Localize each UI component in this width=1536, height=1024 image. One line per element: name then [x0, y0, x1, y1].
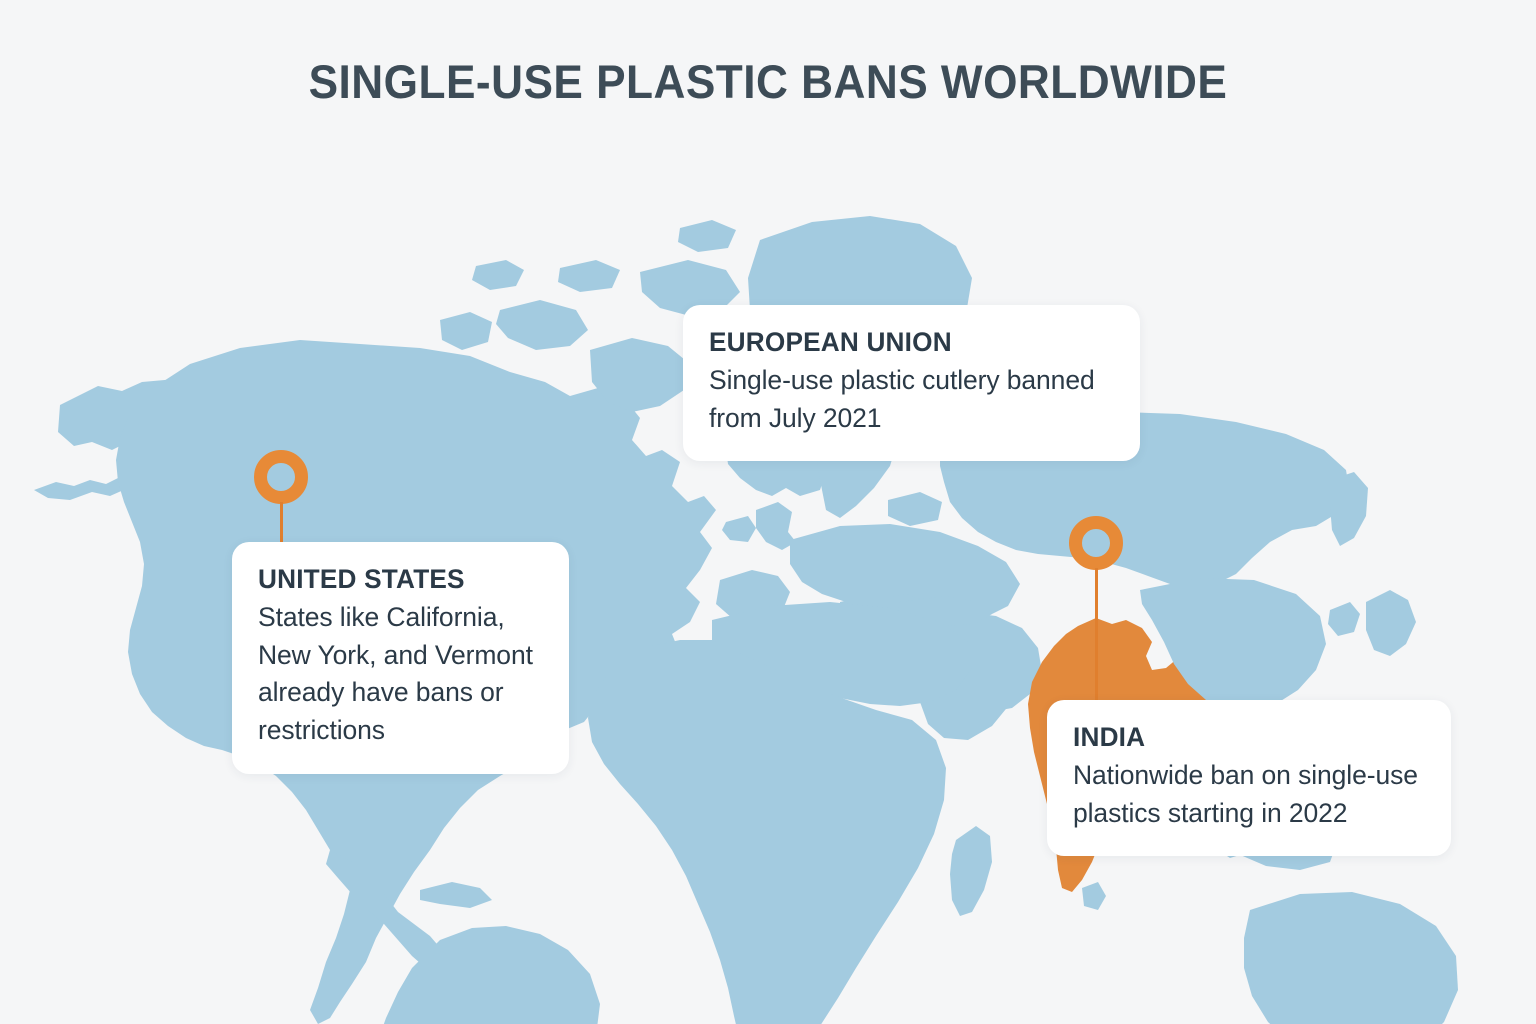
- land-iceland: [888, 492, 942, 526]
- land-arctic-islets-1: [558, 260, 620, 292]
- land-caribbean: [420, 882, 492, 908]
- callout-card-european-union[interactable]: EUROPEAN UNION Single-use plastic cutler…: [683, 305, 1140, 461]
- land-madagascar: [950, 826, 992, 916]
- callout-body-india: Nationwide ban on single-use plastics st…: [1073, 757, 1425, 832]
- callout-body-united-states: States like California, New York, and Ve…: [258, 599, 543, 750]
- land-arctic-islets-3: [472, 260, 524, 290]
- map-pin-ring-icon: [254, 450, 308, 504]
- callout-title-united-states: UNITED STATES: [258, 564, 534, 595]
- infographic-canvas: SINGLE-USE PLASTIC BANS WORLDWIDE: [0, 0, 1536, 1024]
- map-pin-ring-icon: [1069, 516, 1123, 570]
- world-map: [0, 150, 1536, 1024]
- land-banks-island: [440, 312, 492, 350]
- land-victoria-island: [496, 300, 588, 350]
- callout-title-india: INDIA: [1073, 722, 1414, 753]
- callout-card-united-states[interactable]: UNITED STATES States like California, Ne…: [232, 542, 569, 774]
- land-ireland: [722, 516, 756, 542]
- page-title: SINGLE-USE PLASTIC BANS WORLDWIDE: [46, 58, 1490, 105]
- callout-title-european-union: EUROPEAN UNION: [709, 327, 1102, 358]
- land-arctic-islets-2: [678, 220, 736, 252]
- land-korea: [1328, 602, 1360, 636]
- land-sri-lanka: [1082, 882, 1106, 910]
- callout-card-india[interactable]: INDIA Nationwide ban on single-use plast…: [1047, 700, 1451, 856]
- world-map-svg: [0, 150, 1536, 1024]
- land-japan: [1366, 590, 1416, 656]
- land-australia: [1244, 892, 1458, 1024]
- land-kamchatka: [1330, 472, 1368, 546]
- callout-body-european-union: Single-use plastic cutlery banned from J…: [709, 362, 1114, 437]
- land-aleutians: [34, 478, 128, 500]
